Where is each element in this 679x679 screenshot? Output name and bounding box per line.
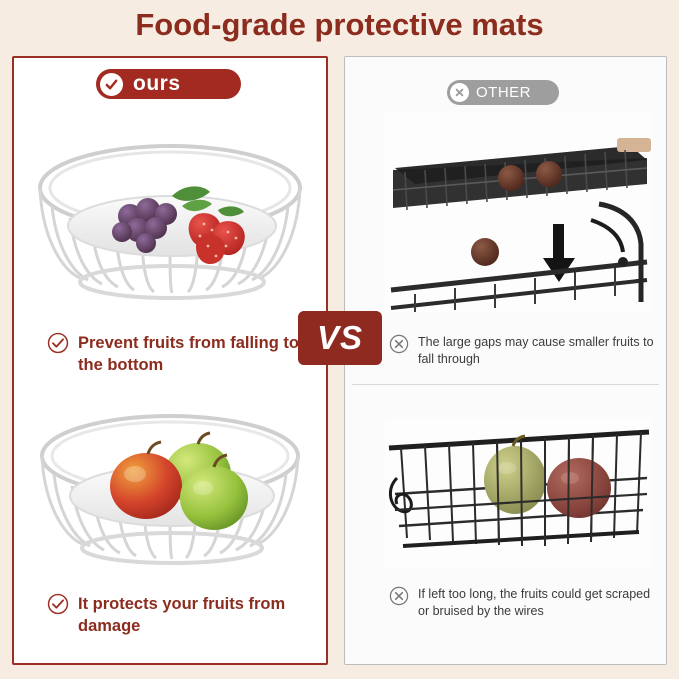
caption-scraped-bruised: If left too long, the fruits could get s… xyxy=(389,586,654,620)
check-icon xyxy=(100,73,123,96)
caption-text: If left too long, the fruits could get s… xyxy=(418,586,654,620)
comparison-infographic: Food-grade protective mats xyxy=(0,0,679,679)
caption-protects-fruits: It protects your fruits from damage xyxy=(47,593,307,637)
close-circle-icon xyxy=(389,334,409,359)
caption-text: Prevent fruits from falling to the botto… xyxy=(78,332,307,376)
caption-prevent-falling: Prevent fruits from falling to the botto… xyxy=(47,332,307,376)
caption-text: The large gaps may cause smaller fruits … xyxy=(418,334,654,368)
caption-large-gaps: The large gaps may cause smaller fruits … xyxy=(389,334,654,368)
photo-white-basket-grapes xyxy=(22,110,318,310)
check-circle-icon xyxy=(47,593,69,620)
ours-badge-label: ours xyxy=(133,72,181,96)
check-circle-icon xyxy=(47,332,69,359)
photo-white-basket-apples xyxy=(22,400,318,580)
ours-badge: ours xyxy=(96,69,241,99)
page-title: Food-grade protective mats xyxy=(0,4,679,46)
other-badge: OTHER xyxy=(447,80,559,105)
photo-black-basket-bruised-fruit xyxy=(385,418,653,568)
close-circle-icon xyxy=(389,586,409,611)
right-panel-divider xyxy=(352,384,659,385)
caption-text: It protects your fruits from damage xyxy=(78,593,307,637)
photo-black-rack-falling-fruit xyxy=(385,112,653,312)
other-badge-label: OTHER xyxy=(476,84,531,101)
vs-badge: VS xyxy=(298,311,382,365)
close-icon xyxy=(450,83,469,102)
